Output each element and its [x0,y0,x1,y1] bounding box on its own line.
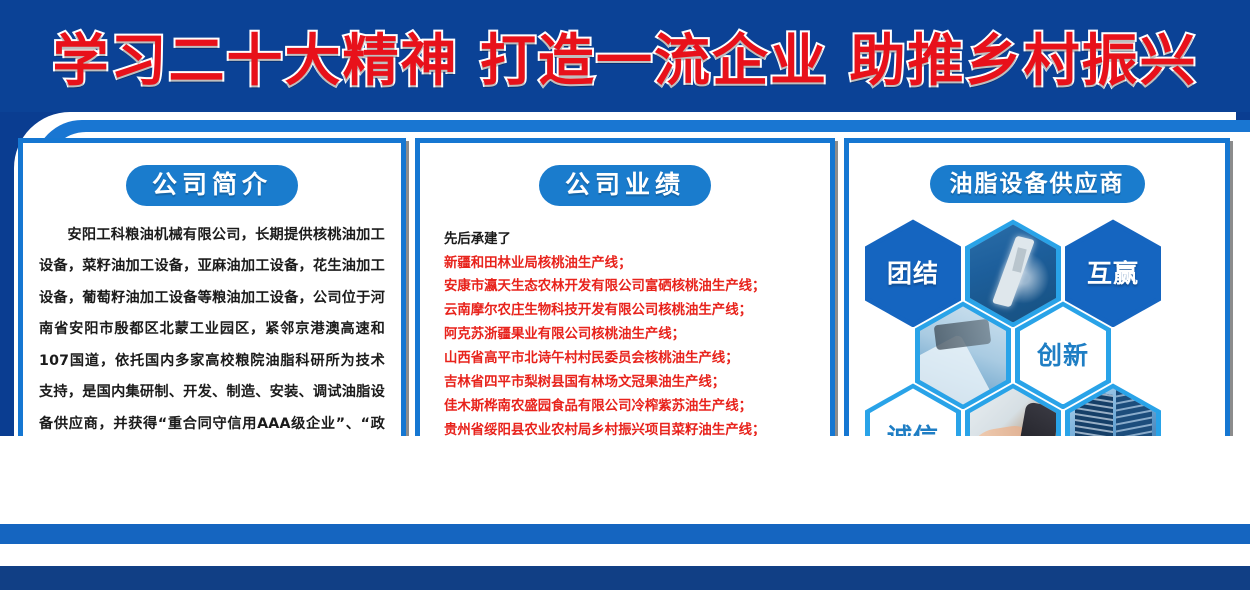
performance-project-line: 安康市瀛天生态农林开发有限公司富硒核桃油生产线； [444,275,814,299]
performance-project-line: 云南摩尔农庄生物科技开发有限公司核桃油生产线； [444,299,814,323]
performance-project-line: 新疆和田林业局核桃油生产线； [444,252,814,276]
performance-intro: 先后承建了 [444,228,814,252]
hex-inner [970,224,1056,322]
aircraft-carrier-icon [970,224,1056,322]
footer-white-stripe [0,544,1250,566]
performance-project-line: 阿克苏浙疆果业有限公司核桃油生产线； [444,323,814,347]
glacier-handshake-icon [920,306,1006,404]
panel-right-title: 油脂设备供应商 [930,165,1145,203]
hexagon-cluster: 团结互赢创新诚信 [865,219,1215,469]
headline-band: 学习二十大精神 打造一流企业 助推乡村振兴 [0,0,1250,112]
headline-text: 学习二十大精神 打造一流企业 助推乡村振兴 [53,16,1198,97]
footer-blue-stripe [0,524,1250,546]
poster-root: 学习二十大精神 打造一流企业 助推乡村振兴 公司简介 安阳工科粮油机械有限公司，… [0,0,1250,590]
performance-project-line: 吉林省四平市梨树县国有林场文冠果油生产线； [444,371,814,395]
performance-project-line: 山西省高平市北诗午村村民委员会核桃油生产线； [444,347,814,371]
panel-left-title: 公司简介 [126,165,298,206]
hex-label: 团结 [887,261,939,286]
performance-project-line: 佳木斯桦南农盛园食品有限公司冷榨紫苏油生产线； [444,395,814,419]
panel-middle-title: 公司业绩 [539,165,711,206]
hex-label: 创新 [1037,343,1089,368]
hex-label: 互赢 [1087,261,1139,286]
hex-inner [920,306,1006,404]
